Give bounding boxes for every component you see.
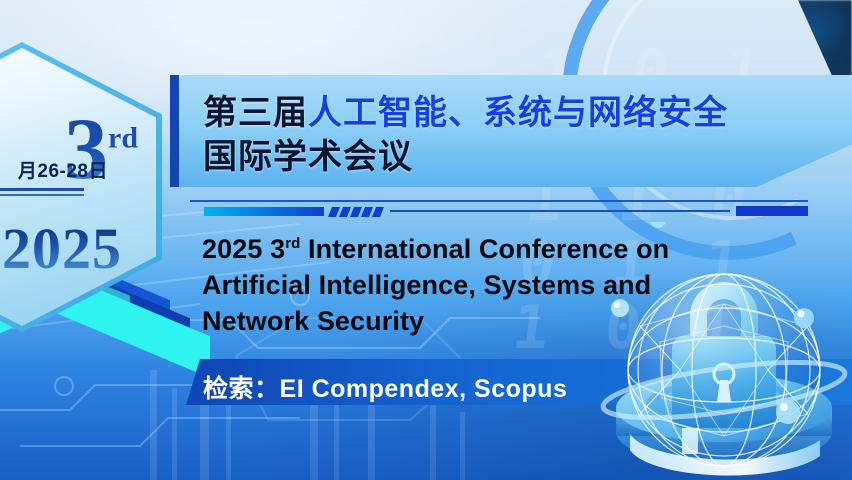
indexing-databases: EI Compendex, Scopus [280,375,568,403]
badge-date-text: 月26-28日 [0,156,108,183]
divider-slanted-dashes [330,207,390,217]
chinese-title-part1: 第三届 [203,94,308,132]
conference-hex-badge: 3rd 月26-28日 NS 2025 [0,42,162,332]
chinese-title-part3: 国际学术会议 [203,136,803,180]
chinese-title: 第三届人工智能、系统与网络安全国际学术会议 [203,92,803,179]
english-title-ordinal-suffix: rd [285,235,300,252]
divider-end-block [736,206,808,216]
badge-acronym: NS 2025 [0,220,122,278]
divider-top-line [190,200,808,202]
title-ribbon-left-edge [170,75,179,187]
badge-ordinal-suffix: rd [108,122,138,155]
security-artwork [596,222,852,480]
divider-gradient-bar [204,207,324,216]
badge-rule-lines [0,188,84,199]
decorative-divider [190,196,810,218]
divider-thin-line [390,210,730,212]
conference-banner: 1 0 1 0 1 0 1 1 0 0 1 1 1 0 1 [0,0,852,480]
chinese-title-part2: 人工智能、系统与网络安全 [308,94,728,132]
indexing-label: 检索： [203,375,280,403]
english-title-year: 2025 [202,234,270,264]
hex-badge-inner: 3rd 月26-28日 NS 2025 [0,48,156,326]
badge-ordinal-value: 3 [64,101,108,198]
indexing-text: 检索：EI Compendex, Scopus [203,369,567,405]
english-title-ordinal: 3 [270,234,285,264]
